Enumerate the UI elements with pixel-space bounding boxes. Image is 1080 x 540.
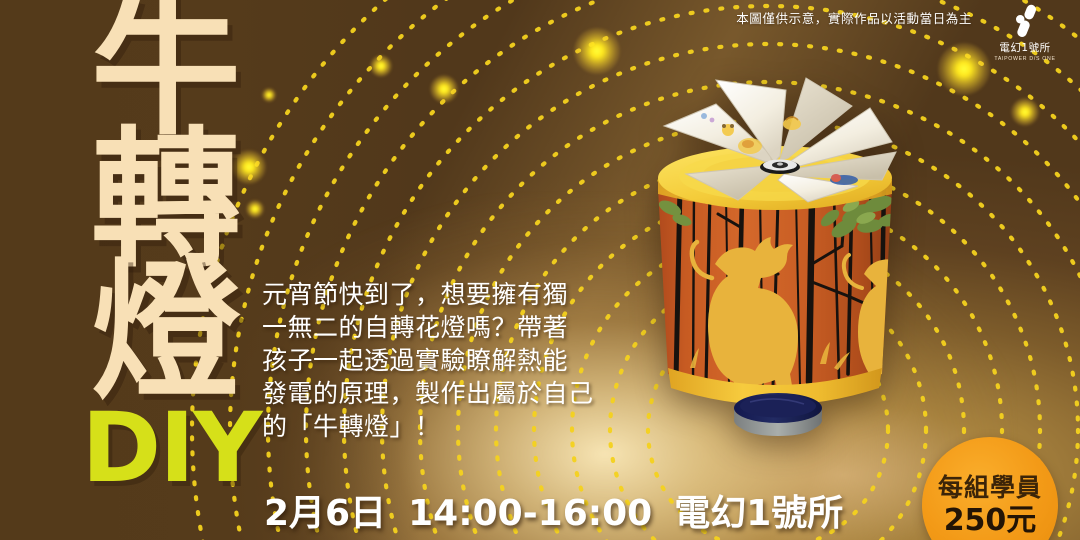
event-info-bar: 2月6日 14:00-16:00 電幻1號所 (264, 484, 843, 536)
event-time: 14:00-16:00 (408, 493, 652, 534)
description-line: 孩子一起透過實驗瞭解熱能 (262, 344, 592, 377)
disclaimer-text: 本圖僅供示意，實際作品以活動當日為主 (736, 8, 972, 27)
bokeh-orb (574, 28, 620, 74)
bokeh-orb (1011, 98, 1039, 126)
description-line: 一無二的自轉花燈嗎？帶著 (262, 311, 592, 344)
description-line: 發電的原理，製作出屬於自己 (262, 377, 592, 410)
lantern-illustration (620, 68, 930, 458)
promo-poster: 牛 轉 燈 DIY 元宵節快到了，想要擁有獨 一無二的自轉花燈嗎？帶著 孩子一起… (0, 0, 1080, 540)
description-line: 的「牛轉燈」！ (262, 410, 592, 443)
event-date: 2月6日 (264, 484, 386, 536)
price-amount: 250元 (944, 504, 1037, 538)
title-subtitle-diy: DIY (48, 400, 294, 496)
description-line: 元宵節快到了，想要擁有獨 (262, 278, 592, 311)
brand-logo: 電幻1號所 TAIPOWER D/S ONE (988, 4, 1062, 62)
title-char-3: 燈 (38, 258, 294, 408)
description-paragraph: 元宵節快到了，想要擁有獨 一無二的自轉花燈嗎？帶著 孩子一起透過實驗瞭解熱能 發… (262, 278, 592, 443)
logo-name-cn: 電幻1號所 (988, 40, 1062, 55)
bokeh-orb (430, 75, 458, 103)
taipower-ds-one-mark-icon (1005, 4, 1045, 38)
bokeh-orb (938, 43, 990, 95)
price-unit-label: 每組學員 (938, 473, 1042, 503)
bokeh-orb (370, 55, 392, 77)
logo-name-en: TAIPOWER D/S ONE (988, 56, 1062, 62)
poster-title: 牛 轉 燈 DIY (44, 0, 294, 496)
event-venue: 電幻1號所 (674, 484, 843, 536)
